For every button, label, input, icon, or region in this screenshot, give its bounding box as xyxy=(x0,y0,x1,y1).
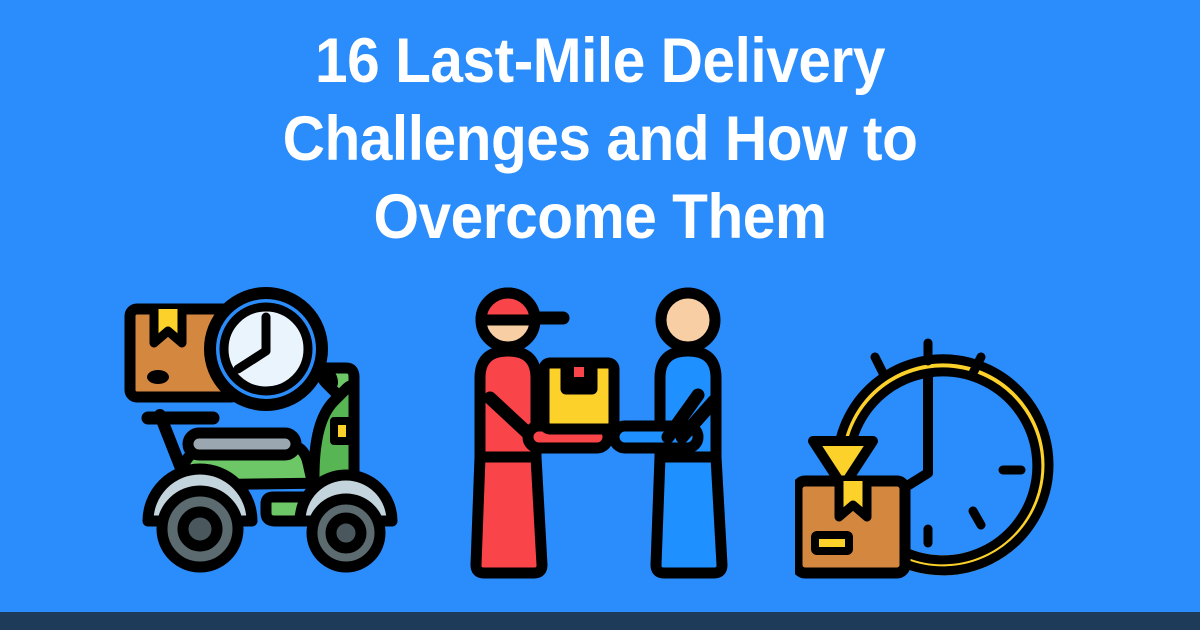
parcel-handoff-icon xyxy=(462,285,742,585)
delivery-scooter-icon xyxy=(118,285,403,585)
illustration-row xyxy=(0,285,1200,595)
on-time-delivery-illustration xyxy=(795,285,1065,590)
footer-accent-bar xyxy=(0,612,1200,630)
banner-card: 16 Last-Mile Delivery Challenges and How… xyxy=(0,0,1200,630)
title-line-2: Challenges and How to xyxy=(154,100,1047,178)
title-line-3: Overcome Them xyxy=(154,178,1047,256)
on-time-delivery-clock-icon xyxy=(795,285,1065,585)
parcel-handoff-illustration xyxy=(462,285,742,590)
delivery-scooter-illustration xyxy=(118,285,403,590)
page-title: 16 Last-Mile Delivery Challenges and How… xyxy=(0,22,1200,256)
title-line-1: 16 Last-Mile Delivery xyxy=(154,22,1047,100)
